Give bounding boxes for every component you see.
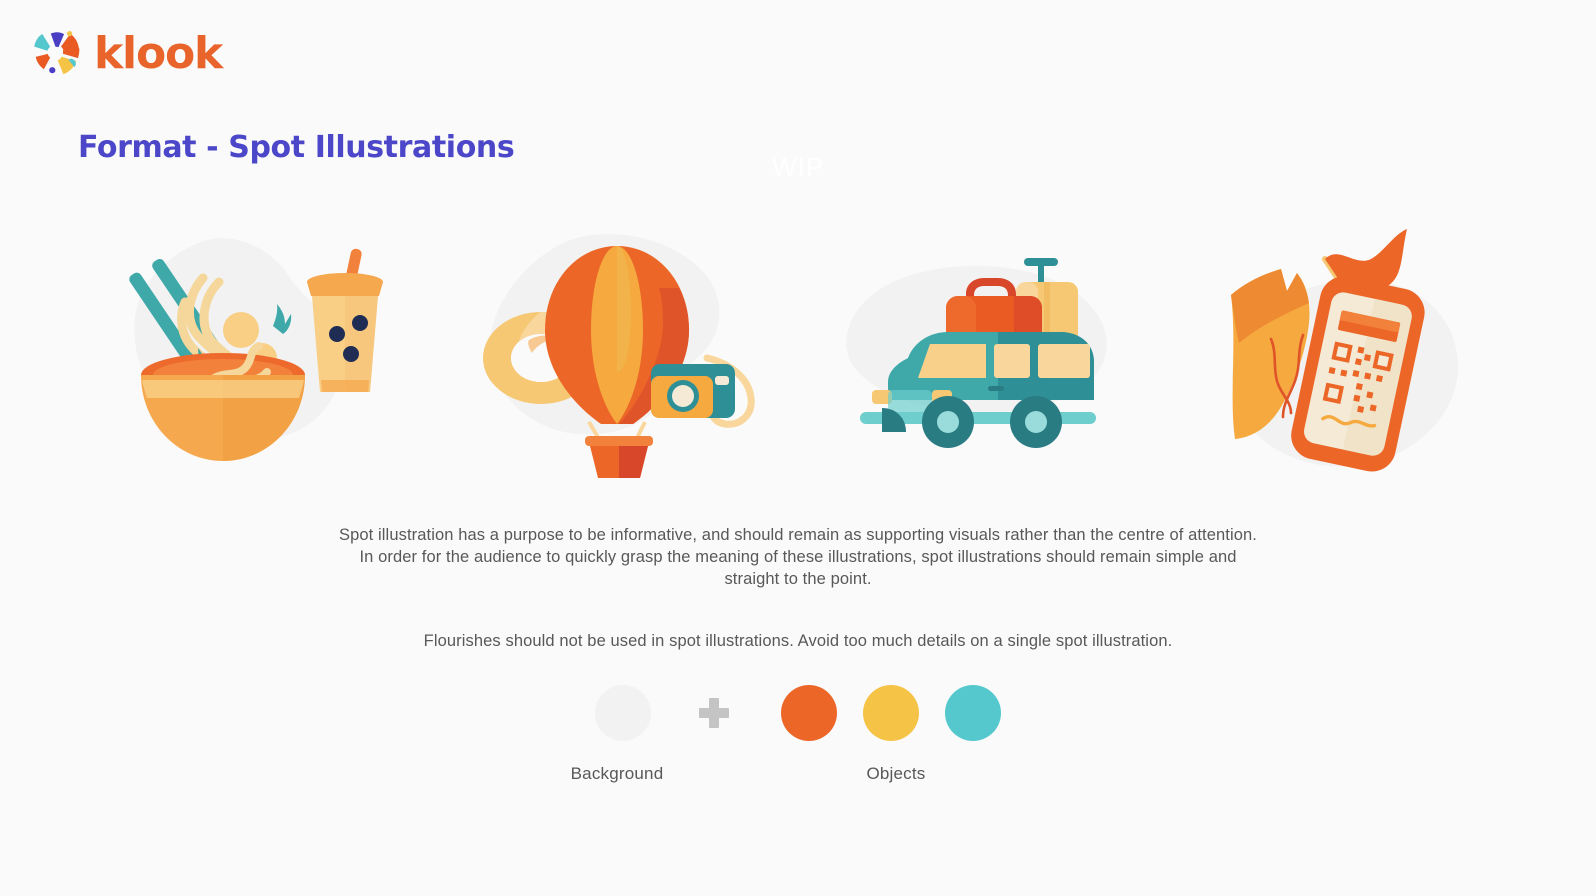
plus-icon [695, 694, 733, 732]
background-label: Background [571, 764, 664, 784]
slide-canvas: klook Format - Spot Illustrations WIP [0, 0, 1596, 896]
wip-watermark: WIP [0, 152, 1596, 183]
noodle-bowl-illustration [110, 215, 410, 495]
object-color-swatch-yellow[interactable] [863, 685, 919, 741]
road-trip-van-illustration [828, 215, 1128, 495]
klook-wordmark: klook [94, 32, 222, 76]
objects-label: Objects [866, 764, 925, 784]
palette-section: Background Objects [0, 680, 1596, 794]
qr-ticket-illustration [1187, 215, 1487, 495]
background-color-swatch[interactable] [595, 685, 651, 741]
description-paragraph-1: Spot illustration has a purpose to be in… [333, 524, 1263, 590]
klook-logo[interactable]: klook [26, 24, 222, 82]
palette-swatch-row [0, 680, 1596, 746]
description-block: Spot illustration has a purpose to be in… [333, 524, 1263, 652]
klook-mark-icon [26, 24, 84, 82]
description-paragraph-2: Flourishes should not be used in spot il… [333, 630, 1263, 652]
object-color-swatch-teal[interactable] [945, 685, 1001, 741]
palette-labels: Background Objects [0, 764, 1596, 794]
hot-air-balloon-illustration [469, 215, 769, 495]
illustration-row [0, 210, 1596, 500]
object-color-swatch-orange[interactable] [781, 685, 837, 741]
